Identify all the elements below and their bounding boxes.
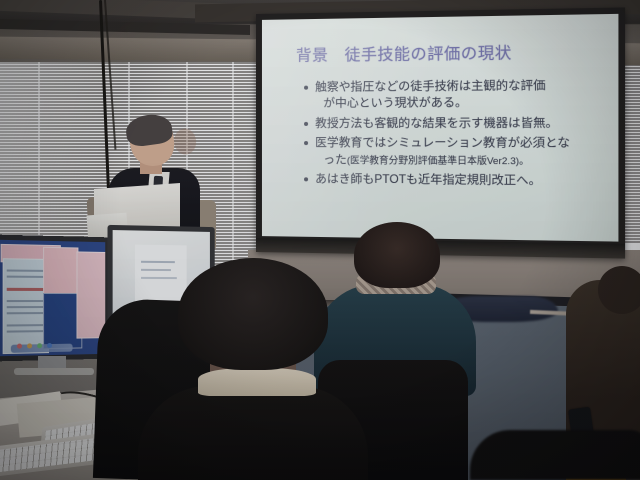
window-document xyxy=(3,258,49,354)
bullet-line-1: 教授方法も客観的な結果を示す機器は皆無。 xyxy=(315,116,558,130)
monitor-screen xyxy=(0,240,105,356)
bullet-line-1: 医学教育ではシミュレーション教育が必須とな xyxy=(315,136,570,150)
slide-bullet-list: 触察や指圧などの徒手技術は主観的な評価 が中心という現状がある。 教授方法も客観… xyxy=(304,77,603,190)
bullet-note: (医学教育分野別評価基準日本版Ver2.3)。 xyxy=(347,154,529,166)
monitor-left xyxy=(0,236,112,386)
foreground-shadow xyxy=(470,430,640,480)
bullet-line-1: あはき師もPTOTも近年指定規則改正へ。 xyxy=(315,173,541,188)
window-pink-3 xyxy=(76,251,105,338)
photo-scene: 背景 徒手技能の評価の現状 触察や指圧などの徒手技術は主観的な評価 が中心という… xyxy=(0,0,640,480)
presenter-face-shadow xyxy=(173,127,198,155)
jacket xyxy=(138,386,368,480)
collar xyxy=(198,368,316,396)
audience-center-foreground xyxy=(148,258,353,480)
head-hair xyxy=(354,222,440,288)
projection-surface: 背景 徒手技能の評価の現状 触察や指圧などの徒手技術は主観的な評価 が中心という… xyxy=(262,14,618,242)
slide-bullet: 触察や指圧などの徒手技術は主観的な評価 が中心という現状がある。 xyxy=(304,77,603,113)
bullet-line-2-text: った xyxy=(323,153,347,166)
monitor-bezel xyxy=(0,235,110,362)
desktop-dock[interactable] xyxy=(11,344,73,353)
bullet-line-1: 触察や指圧などの徒手技術は主観的な評価 xyxy=(315,79,545,94)
projection-screen: 背景 徒手技能の評価の現状 触察や指圧などの徒手技術は主観的な評価 が中心という… xyxy=(256,7,625,258)
presentation-slide: 背景 徒手技能の評価の現状 触察や指圧などの徒手技術は主観的な評価 が中心という… xyxy=(262,14,618,242)
bullet-line-2: った(医学教育分野別評価基準日本版Ver2.3)。 xyxy=(315,152,603,170)
slide-bullet: 教授方法も客観的な結果を示す機器は皆無。 xyxy=(304,115,603,132)
slide-bullet: あはき師もPTOTも近年指定規則改正へ。 xyxy=(304,172,603,191)
slide-bullet: 医学教育ではシミュレーション教育が必須とな った(医学教育分野別評価基準日本版V… xyxy=(304,135,603,170)
head-hair xyxy=(178,258,328,370)
head-hair xyxy=(598,266,640,314)
bullet-line-2: が中心という現状がある。 xyxy=(315,95,603,113)
monitor-base xyxy=(14,368,94,375)
slide-title: 背景 徒手技能の評価の現状 xyxy=(296,39,603,65)
